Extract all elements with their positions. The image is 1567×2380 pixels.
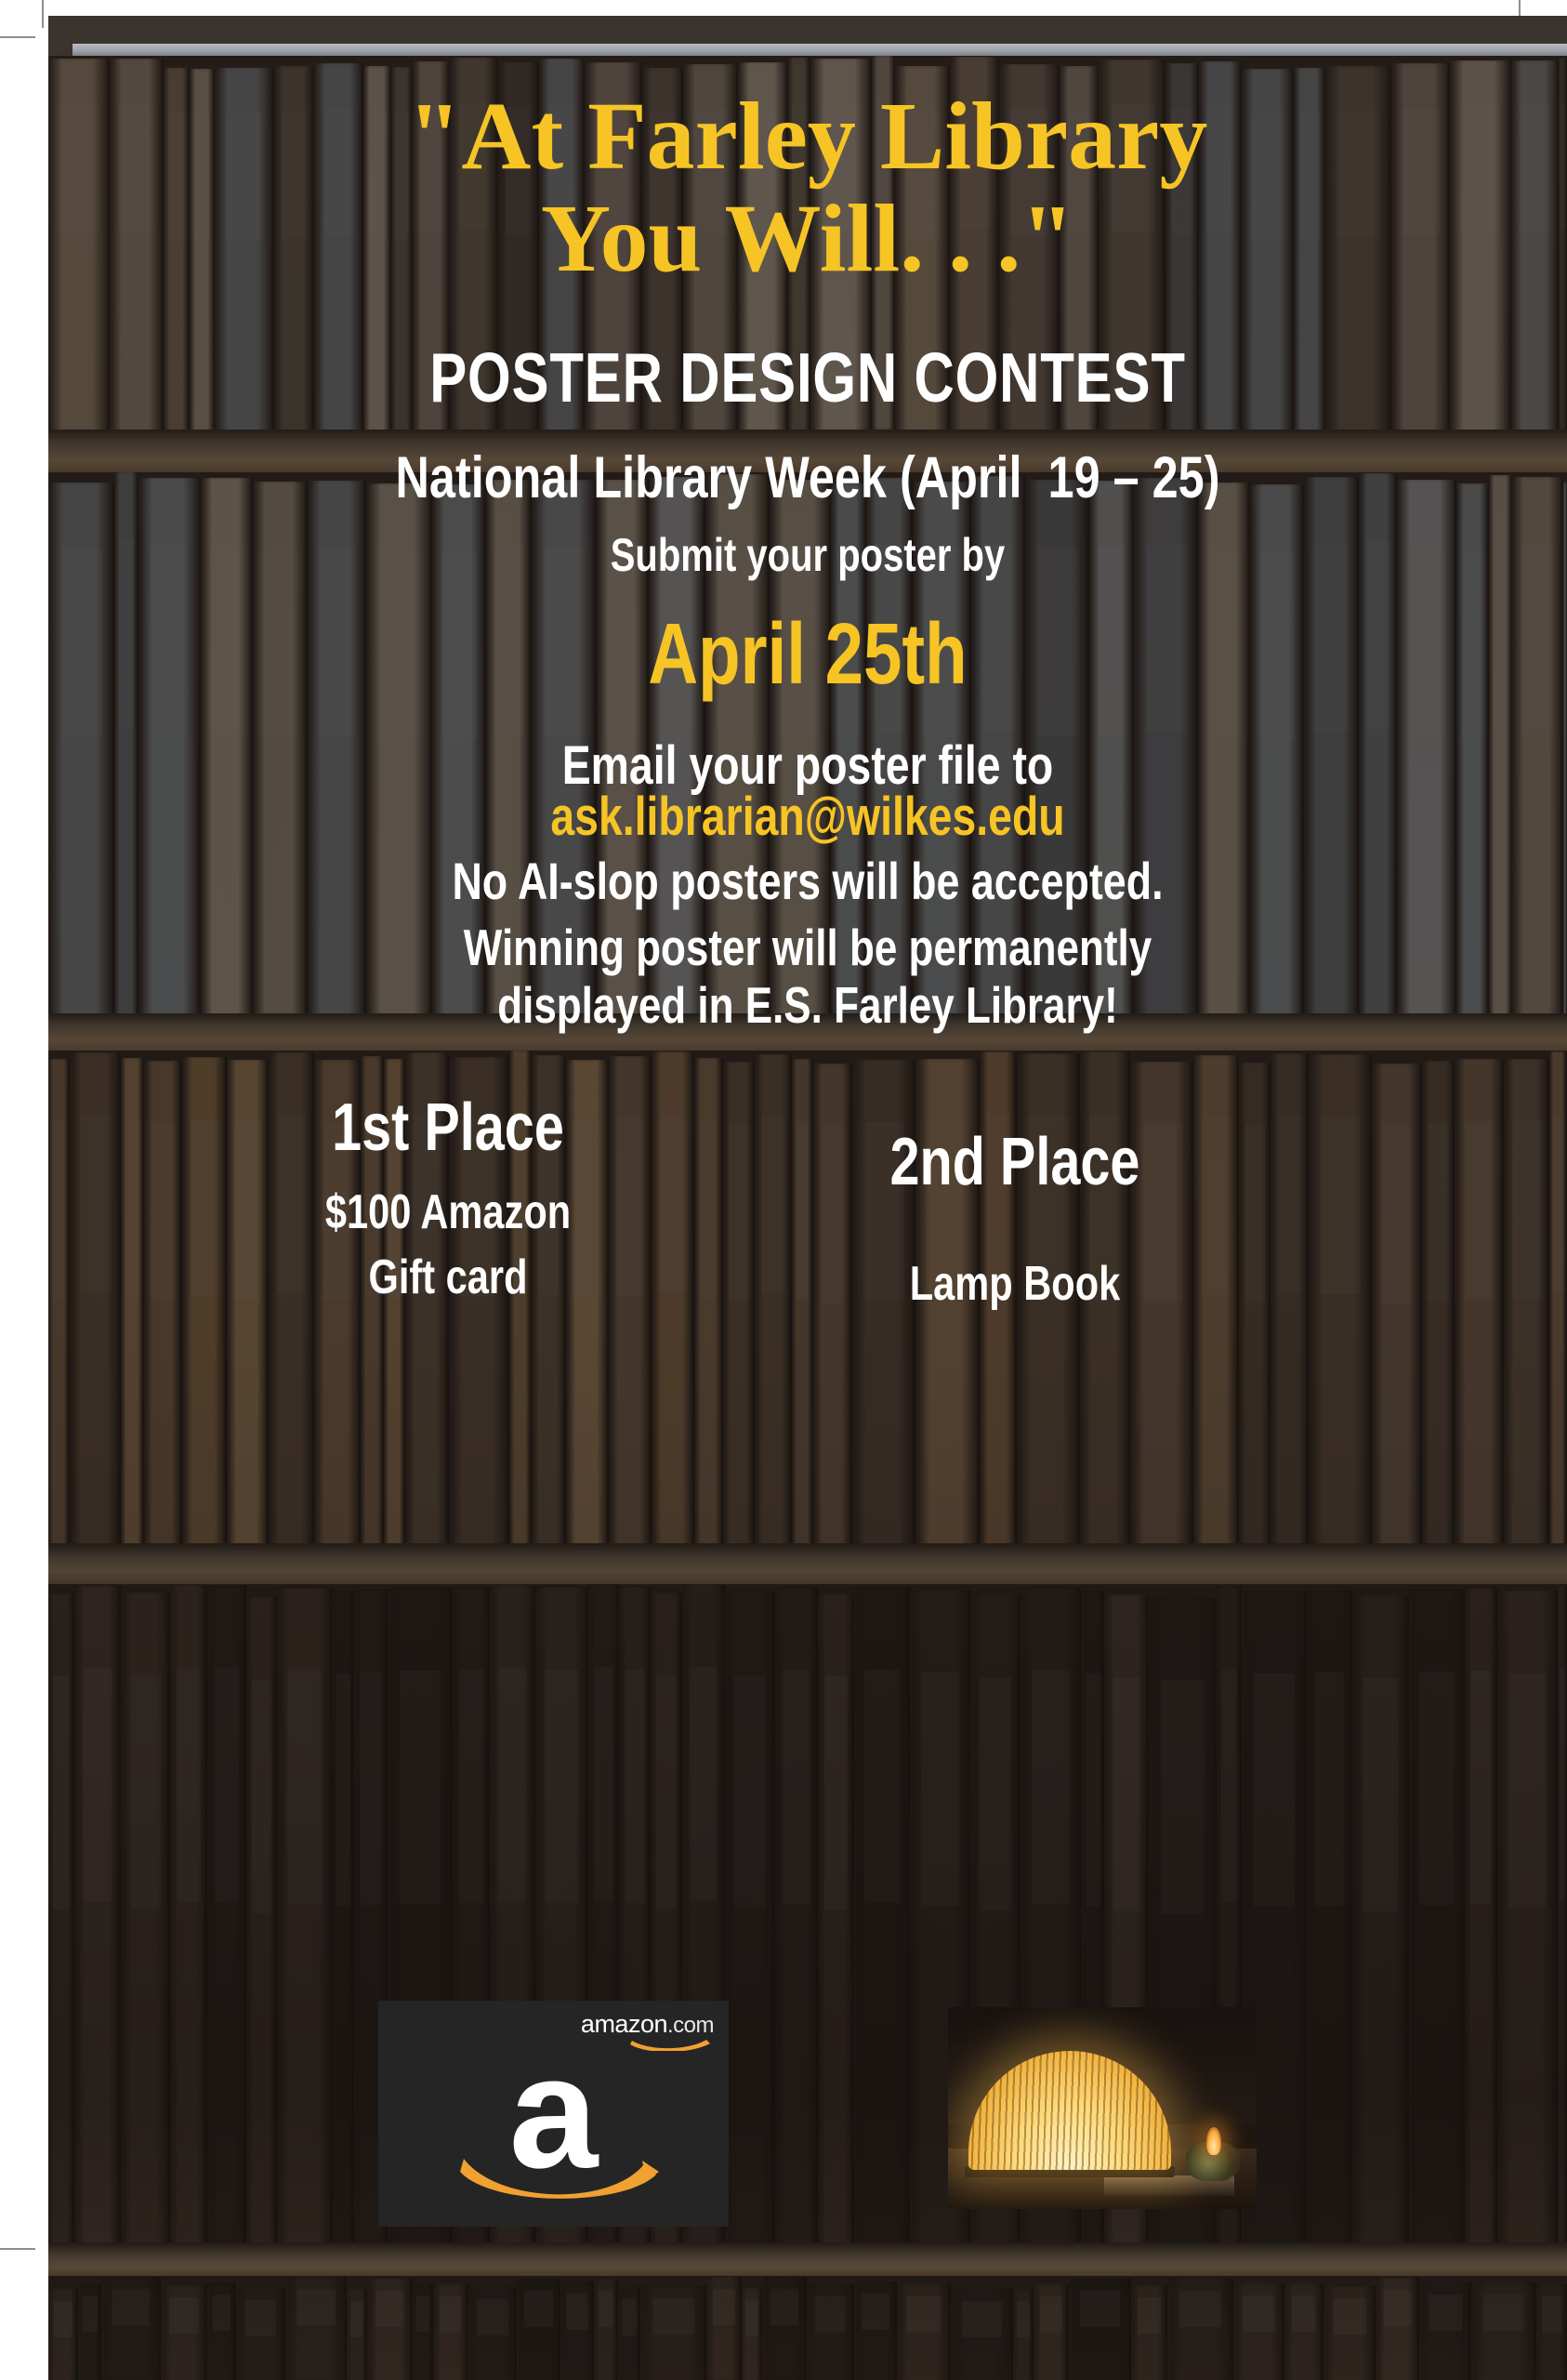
- crop-mark-bottom-left-horizontal: [0, 2248, 35, 2250]
- contest-heading: POSTER DESIGN CONTEST: [200, 343, 1415, 413]
- national-library-week-dates: National Library Week (April 19 – 25): [200, 449, 1415, 508]
- lamp-book-photo: [948, 2007, 1257, 2209]
- poster-title-line-1: "At Farley Library: [48, 88, 1567, 185]
- poster-title-line-2: You Will. . .": [48, 191, 1567, 287]
- email-instruction-label: Email your poster file to: [200, 739, 1415, 793]
- submit-deadline-label: Submit your poster by: [200, 532, 1415, 578]
- submission-deadline-date: April 25th: [200, 611, 1415, 697]
- crop-mark-top-left-vertical: [42, 0, 44, 28]
- email-address[interactable]: ask.librarian@wilkes.edu: [200, 790, 1415, 844]
- amazon-smile-arrow-icon: [460, 2149, 661, 2207]
- crop-mark-top-left-horizontal: [0, 36, 35, 38]
- second-place-reward-line-1: Lamp Book: [807, 1256, 1223, 1312]
- first-place-heading: 1st Place: [240, 1090, 656, 1166]
- first-place-reward-line-2: Gift card: [240, 1249, 656, 1305]
- poster-page: "At Farley Library You Will. . ." POSTER…: [0, 0, 1567, 2380]
- winner-display-line-2: displayed in E.S. Farley Library!: [200, 980, 1415, 1031]
- poster-artwork: "At Farley Library You Will. . ." POSTER…: [48, 16, 1567, 2380]
- winner-display-line-1: Winning poster will be permanently: [200, 922, 1415, 973]
- poster-content: "At Farley Library You Will. . ." POSTER…: [48, 16, 1567, 2380]
- second-place-heading: 2nd Place: [807, 1124, 1223, 1200]
- no-ai-notice: No AI-slop posters will be accepted.: [200, 855, 1415, 907]
- first-place-reward-line-1: $100 Amazon: [240, 1184, 656, 1240]
- prize-block-second-place: 2nd Place Lamp Book: [755, 1124, 1275, 1312]
- lamp-photo-candle-flame: [1206, 2127, 1221, 2155]
- amazon-gift-card-image: amazon.com a: [378, 2001, 729, 2227]
- prize-block-first-place: 1st Place $100 Amazon Gift card: [188, 1090, 708, 1305]
